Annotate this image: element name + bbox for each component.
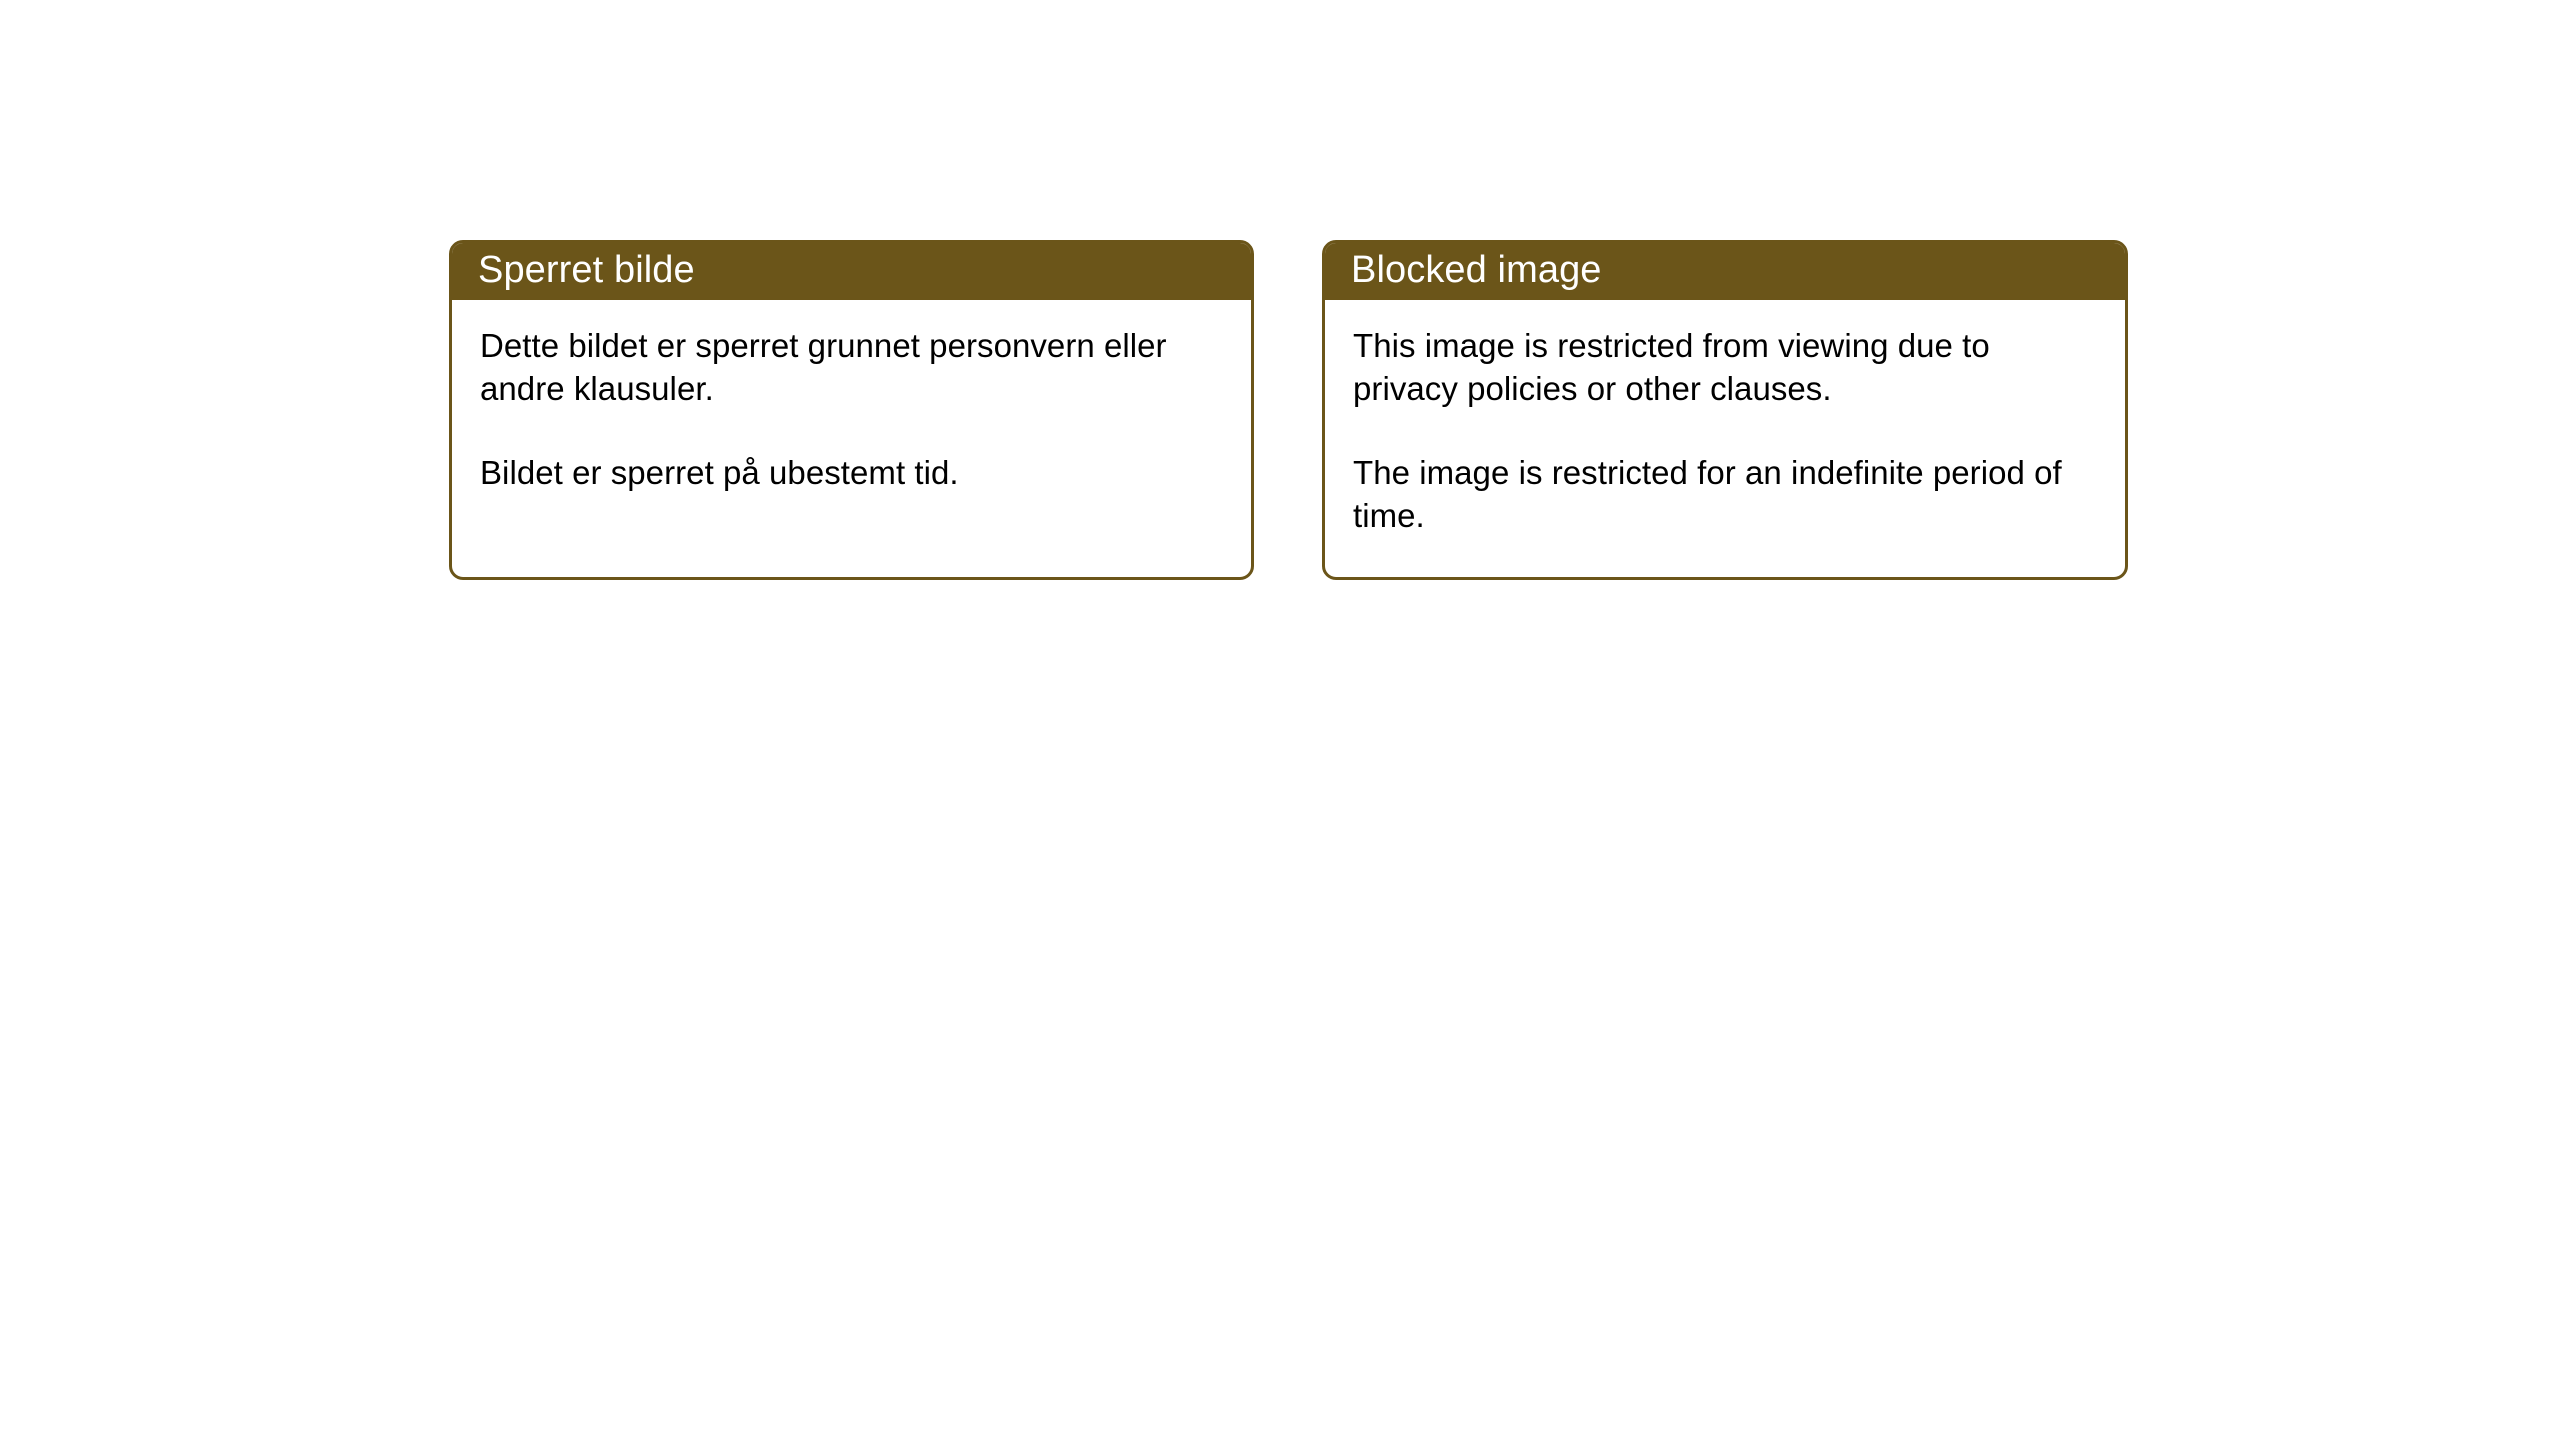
- panel-paragraph-norwegian-1: Dette bildet er sperret grunnet personve…: [480, 324, 1225, 410]
- panel-body-norwegian: Dette bildet er sperret grunnet personve…: [452, 300, 1251, 494]
- panel-header-norwegian: Sperret bilde: [449, 240, 1254, 300]
- panel-title-norwegian: Sperret bilde: [478, 249, 695, 291]
- blocked-image-panel-norwegian: Sperret bilde Dette bildet er sperret gr…: [449, 240, 1254, 580]
- panel-title-english: Blocked image: [1351, 249, 1602, 291]
- panel-paragraph-english-2: The image is restricted for an indefinit…: [1353, 451, 2099, 537]
- panel-paragraph-english-1: This image is restricted from viewing du…: [1353, 324, 2099, 410]
- blocked-image-panel-english: Blocked image This image is restricted f…: [1322, 240, 2128, 580]
- blocked-image-notice-stage: Sperret bilde Dette bildet er sperret gr…: [0, 0, 2560, 1440]
- panel-paragraph-norwegian-2: Bildet er sperret på ubestemt tid.: [480, 451, 1225, 494]
- panel-body-english: This image is restricted from viewing du…: [1325, 300, 2125, 537]
- panel-header-english: Blocked image: [1322, 240, 2128, 300]
